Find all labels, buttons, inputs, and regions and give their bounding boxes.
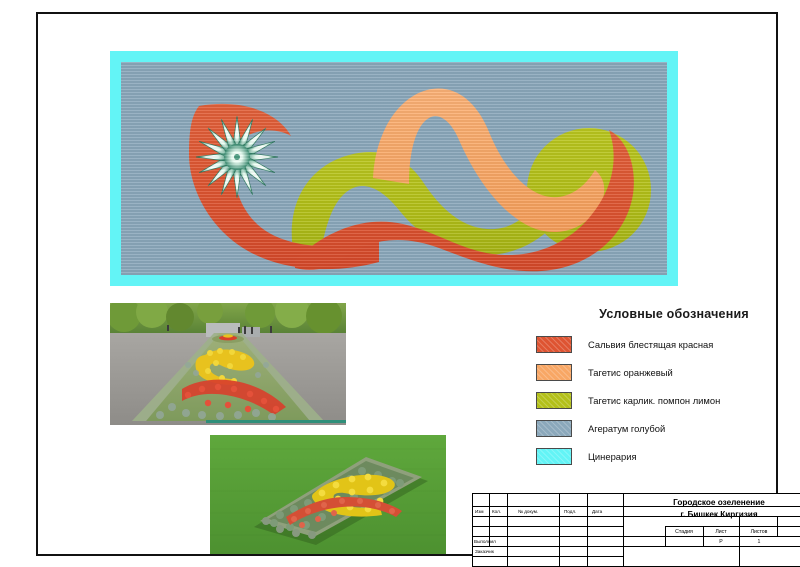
legend-label-ageratum: Агератум голубой [588,423,665,434]
tb-rule-v4 [587,494,588,567]
legend-swatch-salvia [536,336,572,353]
photo-render-svg [210,435,446,554]
tb-header-izm: Изм [475,510,484,515]
shape-star-accent [196,116,278,198]
legend-item-ageratum: Агератум голубой [536,414,796,442]
tb-stamp-header-list: Лист [703,529,739,535]
tb-stamp-header-stadia: Стадия [665,529,703,535]
tb-rule-h4b [665,536,800,537]
tb-header-kol: Кол. [492,510,501,515]
flower-bed-plan [110,51,678,286]
tb-rule-h6 [473,556,623,557]
tb-stamp-header-listov: Листов [739,529,779,535]
legend: Условные обозначения Сальвия блестящая к… [536,307,796,470]
legend-label-tagetes-lemon: Тагетис карлик. помпон лимон [588,395,720,406]
legend-swatch-tagetes-orange [536,364,572,381]
legend-title: Условные обозначения [552,307,796,321]
tb-header-data: Дата [592,510,602,515]
title-block: Городское озеленение г. Бишкек Киргизия … [472,493,800,567]
legend-label-tagetes-orange: Тагетис оранжевый [588,367,673,378]
tb-header-podl: Подл. [564,510,576,515]
tb-stamp-value-list: Р [703,539,739,545]
tb-rule-h5 [473,546,800,547]
legend-label-cinereria: Цинерария [588,451,637,462]
legend-swatch-tagetes-lemon [536,392,572,409]
photo-boulevard-svg [110,303,346,425]
tb-role-zakazchik: Заказчик [475,550,494,555]
legend-swatch-cinereria [536,448,572,465]
tb-header-dokum: № докум. [518,510,538,515]
legend-label-salvia: Сальвия блестящая красная [588,339,713,350]
drawing-sheet-frame: Условные обозначения Сальвия блестящая к… [36,12,778,556]
plan-shapes-svg [121,62,667,275]
project-title-line2: г. Бишкек Киргизия [625,509,800,521]
tb-rule-v2 [507,494,508,567]
plan-background-ageratum [121,62,667,275]
project-title-line1: Городское озеленение [625,497,800,509]
legend-item-tagetes-orange: Тагетис оранжевый [536,358,796,386]
tb-rule-h3b [665,526,800,527]
legend-item-tagetes-lemon: Тагетис карлик. помпон лимон [536,386,796,414]
tb-rule-v3 [559,494,560,567]
legend-item-cinereria: Цинерария [536,442,796,470]
tb-role-vypolnil: Выполнил [474,540,496,545]
photo-3d-render [210,435,446,554]
legend-swatch-ageratum [536,420,572,437]
tb-rule-h3 [473,526,623,527]
photo-boulevard [110,303,346,425]
tb-stamp-value-listov: 1 [739,539,779,545]
legend-item-salvia: Сальвия блестящая красная [536,330,796,358]
tb-rule-v5 [623,494,624,567]
project-title: Городское озеленение г. Бишкек Киргизия [625,497,800,521]
